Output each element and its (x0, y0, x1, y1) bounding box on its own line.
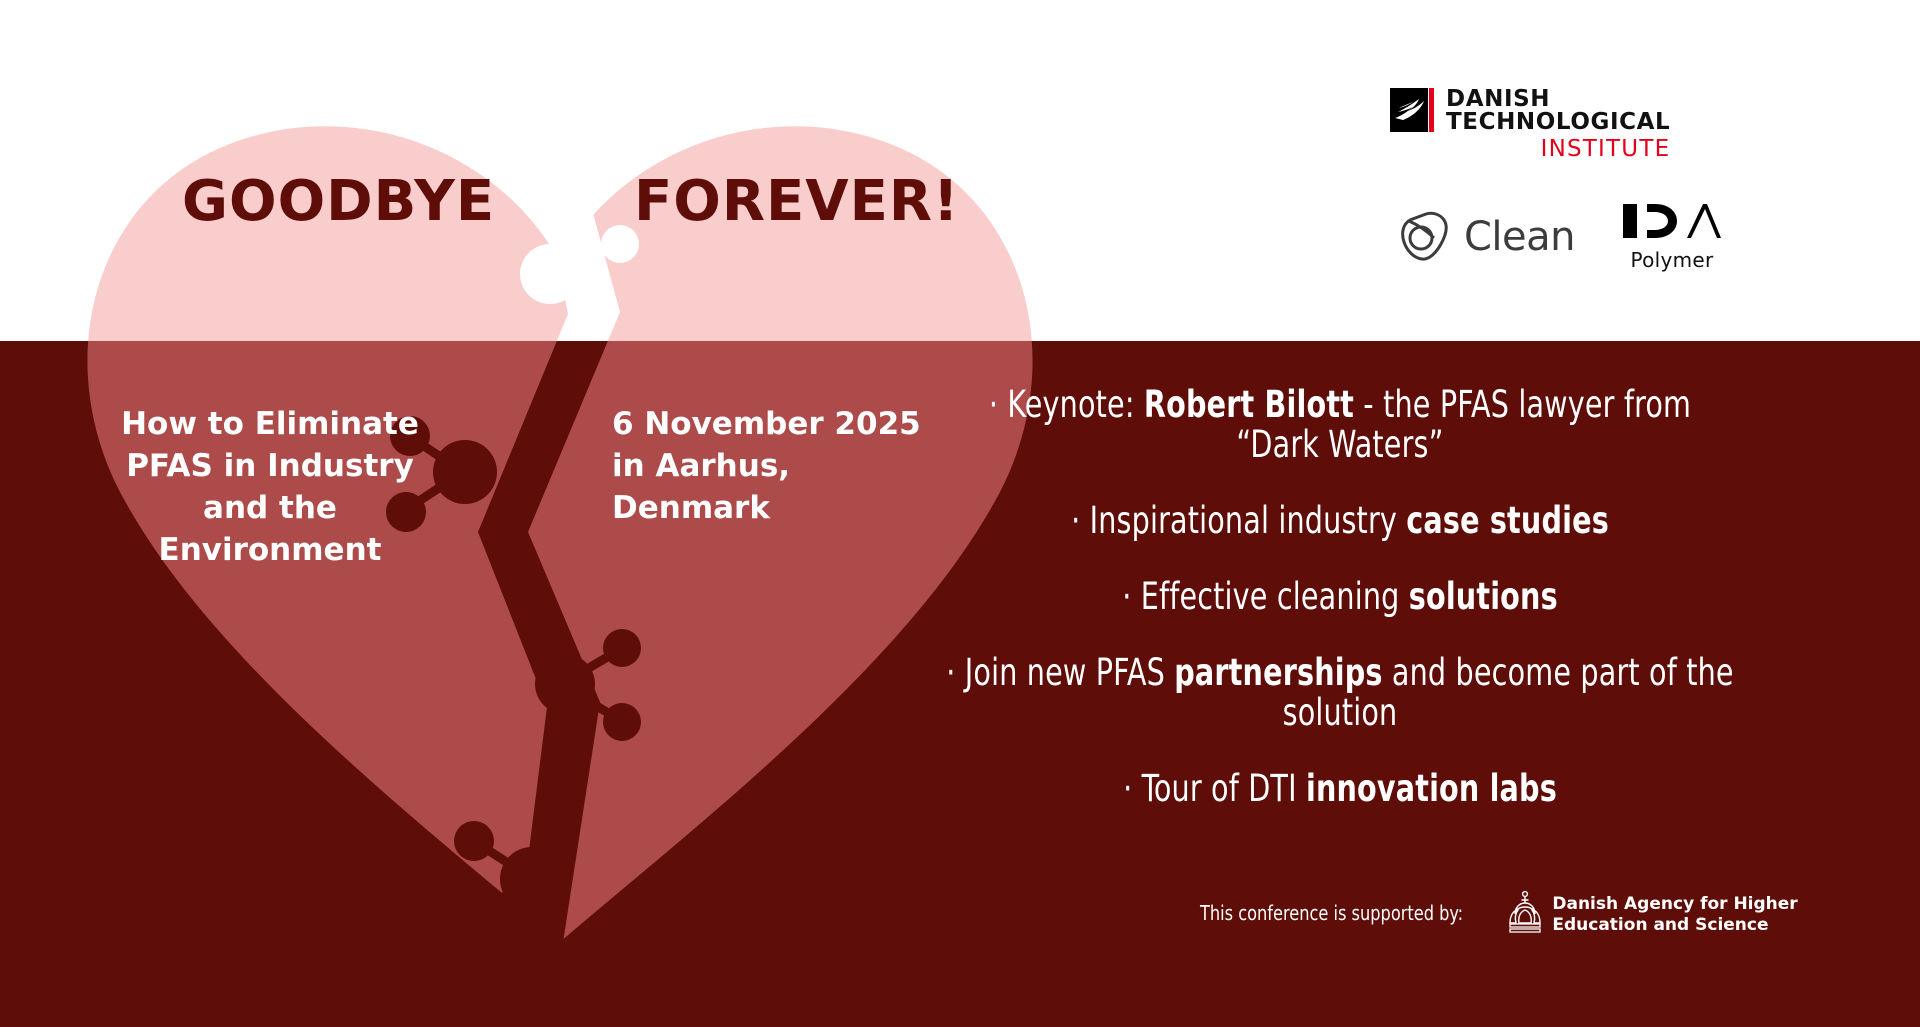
bullet-prefix: · Effective cleaning (1122, 575, 1409, 618)
dti-logo[interactable]: DANISH TECHNOLOGICAL INSTITUTE (1390, 88, 1730, 161)
bullet-prefix: · Join new PFAS (946, 651, 1174, 694)
list-item: · Effective cleaning solutions (944, 577, 1735, 617)
bullet-prefix: · Keynote: (989, 383, 1144, 426)
list-item: · Join new PFAS partnerships and become … (944, 653, 1735, 733)
list-item: · Inspirational industry case studies (944, 501, 1735, 541)
danish-agency-logo[interactable]: Danish Agency for Higher Education and S… (1506, 890, 1797, 936)
dti-bird-icon (1390, 88, 1434, 132)
agency-line-2: Education and Science (1552, 915, 1797, 936)
agency-line-1: Danish Agency for Higher (1552, 894, 1797, 915)
subtitle-topic: How to Eliminate PFAS in Industry and th… (120, 403, 420, 571)
partner-logo-row: Clean Polymer (1390, 201, 1730, 272)
ida-polymer-wordmark: Polymer (1621, 248, 1723, 272)
ida-polymer-logo[interactable]: Polymer (1621, 201, 1723, 272)
bullet-bold: innovation labs (1306, 767, 1557, 810)
bullet-prefix: · Inspirational industry (1071, 499, 1406, 542)
supporter-label: This conference is supported by: (1200, 901, 1463, 925)
clean-wordmark: Clean (1464, 214, 1575, 260)
ida-monogram-icon (1621, 201, 1723, 241)
list-item: · Tour of DTI innovation labs (944, 769, 1735, 809)
headline-goodbye: GOODBYE (182, 169, 495, 234)
dti-line-3: INSTITUTE (1446, 138, 1670, 161)
list-item: · Keynote: Robert Bilott - the PFAS lawy… (944, 385, 1735, 465)
clean-triangle-icon (1396, 208, 1454, 266)
bullet-bold: Robert Bilott (1144, 383, 1354, 426)
dti-line-1: DANISH (1446, 88, 1670, 111)
dti-line-2: TECHNOLOGICAL (1446, 111, 1670, 134)
bullet-prefix: · Tour of DTI (1123, 767, 1306, 810)
bullet-bold: solutions (1409, 575, 1558, 618)
poster-canvas: GOODBYE FOREVER! How to Eliminate PFAS i… (0, 0, 1920, 1027)
logo-cluster: DANISH TECHNOLOGICAL INSTITUTE Clean (1390, 88, 1730, 272)
bullet-bold: case studies (1406, 499, 1609, 542)
clean-logo[interactable]: Clean (1396, 208, 1575, 266)
supporter-strip: This conference is supported by: Danish … (1200, 890, 1760, 936)
bullet-bold: partnerships (1174, 651, 1382, 694)
crown-icon (1506, 890, 1544, 936)
program-highlights-list: · Keynote: Robert Bilott - the PFAS lawy… (880, 385, 1800, 845)
headline-forever: FOREVER! (634, 169, 960, 234)
